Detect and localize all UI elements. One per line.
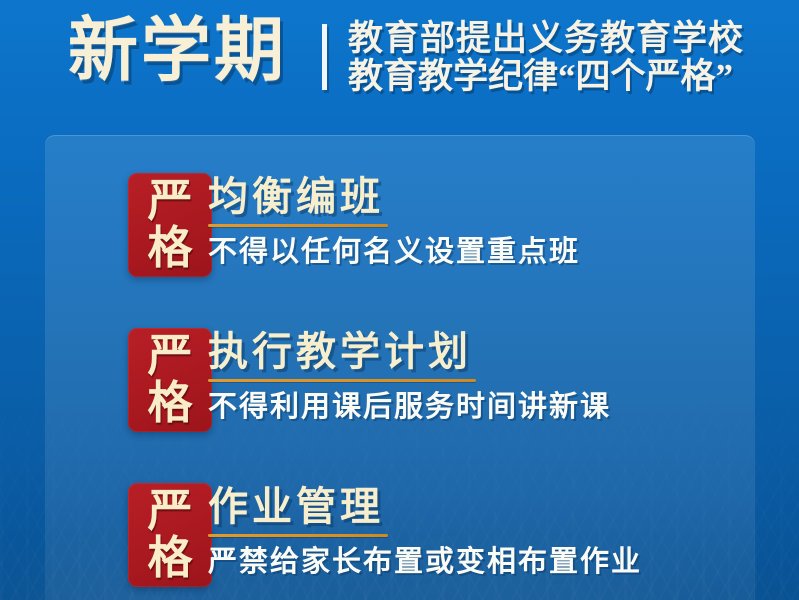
- rule-title-2: 执行教学计划: [208, 328, 476, 376]
- rules-panel: 严 格 均衡编班 不得以任何名义设置重点班 严 格 执行教学计划 不得利用课后服…: [45, 135, 755, 600]
- badge-char-bottom: 格: [147, 535, 192, 582]
- header-subtitle-line-1: 教育部提出义务教育学校: [348, 20, 744, 58]
- rule-subtitle-1: 不得以任何名义设置重点班: [208, 227, 748, 272]
- header-subtitle: 教育部提出义务教育学校 教育教学纪律“四个严格”: [348, 20, 744, 96]
- rule-subtitle-2: 不得利用课后服务时间讲新课: [208, 382, 748, 427]
- badge-char-top: 严: [147, 178, 192, 225]
- header-divider: [322, 24, 327, 90]
- strict-badge-3: 严 格: [128, 483, 212, 587]
- poster-header: 新学期 教育部提出义务教育学校 教育教学纪律“四个严格”: [0, 0, 799, 118]
- header-subtitle-line-2: 教育教学纪律“四个严格”: [348, 58, 744, 96]
- strict-badge-2: 严 格: [128, 328, 212, 432]
- rule-item-1: 严 格 均衡编班 不得以任何名义设置重点班: [128, 173, 748, 281]
- rule-item-3: 严 格 作业管理 严禁给家长布置或变相布置作业: [128, 483, 748, 591]
- badge-char-bottom: 格: [147, 380, 192, 427]
- strict-badge-1: 严 格: [128, 173, 212, 277]
- page-title: 新学期: [68, 12, 287, 92]
- rule-text-2: 执行教学计划 不得利用课后服务时间讲新课: [208, 328, 748, 427]
- badge-char-bottom: 格: [147, 225, 192, 272]
- poster-canvas: 新学期 教育部提出义务教育学校 教育教学纪律“四个严格” 严 格 均衡编班 不得…: [0, 0, 799, 600]
- rule-text-1: 均衡编班 不得以任何名义设置重点班: [208, 173, 748, 272]
- badge-char-top: 严: [147, 333, 192, 380]
- badge-char-top: 严: [147, 488, 192, 535]
- rule-title-3: 作业管理: [208, 483, 388, 531]
- rule-title-1: 均衡编班: [208, 173, 388, 221]
- rule-item-2: 严 格 执行教学计划 不得利用课后服务时间讲新课: [128, 328, 748, 436]
- rule-subtitle-3: 严禁给家长布置或变相布置作业: [208, 537, 748, 582]
- rule-text-3: 作业管理 严禁给家长布置或变相布置作业: [208, 483, 748, 582]
